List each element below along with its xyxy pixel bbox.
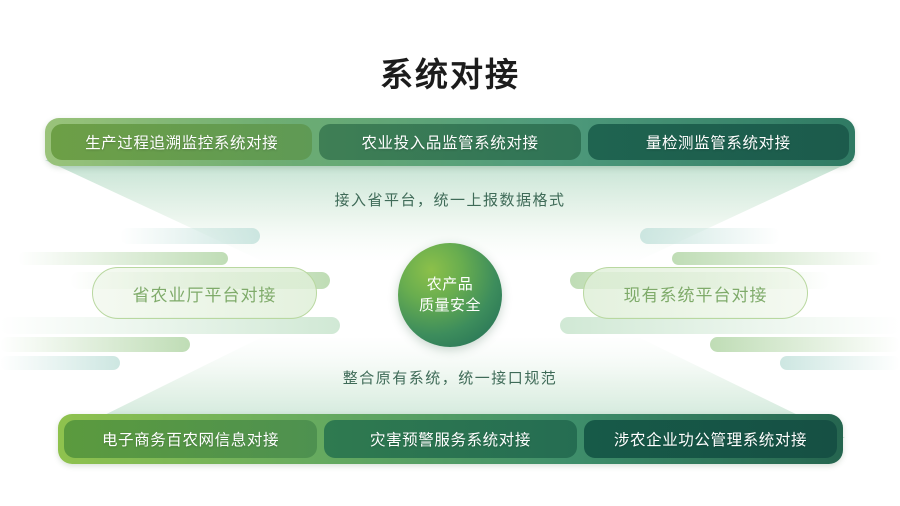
- deco-bar-left-4: [0, 317, 340, 334]
- deco-bar-right-1: [640, 228, 780, 244]
- core-circle[interactable]: 农产品 质量安全: [398, 243, 502, 347]
- bottom-systems-band: 电子商务百农网信息对接 灾害预警服务系统对接 涉农企业功公管理系统对接: [58, 414, 843, 464]
- deco-bar-left-1: [120, 228, 260, 244]
- core-label-line-2: 质量安全: [419, 295, 481, 316]
- deco-bar-right-2: [672, 252, 882, 265]
- right-platform-pill[interactable]: 现有系统平台对接: [583, 267, 808, 319]
- right-platform-pill-label: 现有系统平台对接: [624, 281, 768, 306]
- deco-bar-right-5: [710, 337, 900, 352]
- bottom-system-chip-1[interactable]: 电子商务百农网信息对接: [64, 420, 317, 458]
- top-connector-caption: 接入省平台，统一上报数据格式: [0, 189, 900, 210]
- top-system-chip-1[interactable]: 生产过程追溯监控系统对接: [51, 124, 312, 160]
- left-platform-pill[interactable]: 省农业厅平台对接: [92, 267, 317, 319]
- core-label-line-1: 农产品: [427, 274, 474, 295]
- bottom-connector-caption: 整合原有系统，统一接口规范: [0, 367, 900, 388]
- top-system-chip-2[interactable]: 农业投入品监管系统对接: [319, 124, 580, 160]
- bottom-system-chip-2[interactable]: 灾害预警服务系统对接: [324, 420, 577, 458]
- top-systems-band: 生产过程追溯监控系统对接 农业投入品监管系统对接 量检测监管系统对接: [45, 118, 855, 166]
- infographic-canvas: 系统对接 生产过程追溯监控系统对接 农业投入品监管系统对接 量检测监管系统对接 …: [0, 0, 900, 506]
- page-title: 系统对接: [0, 48, 900, 96]
- deco-bar-left-2: [18, 252, 228, 265]
- deco-bar-left-5: [0, 337, 190, 352]
- deco-bar-right-4: [560, 317, 900, 334]
- top-system-chip-3[interactable]: 量检测监管系统对接: [588, 124, 849, 160]
- bottom-system-chip-3[interactable]: 涉农企业功公管理系统对接: [584, 420, 837, 458]
- left-platform-pill-label: 省农业厅平台对接: [133, 281, 277, 306]
